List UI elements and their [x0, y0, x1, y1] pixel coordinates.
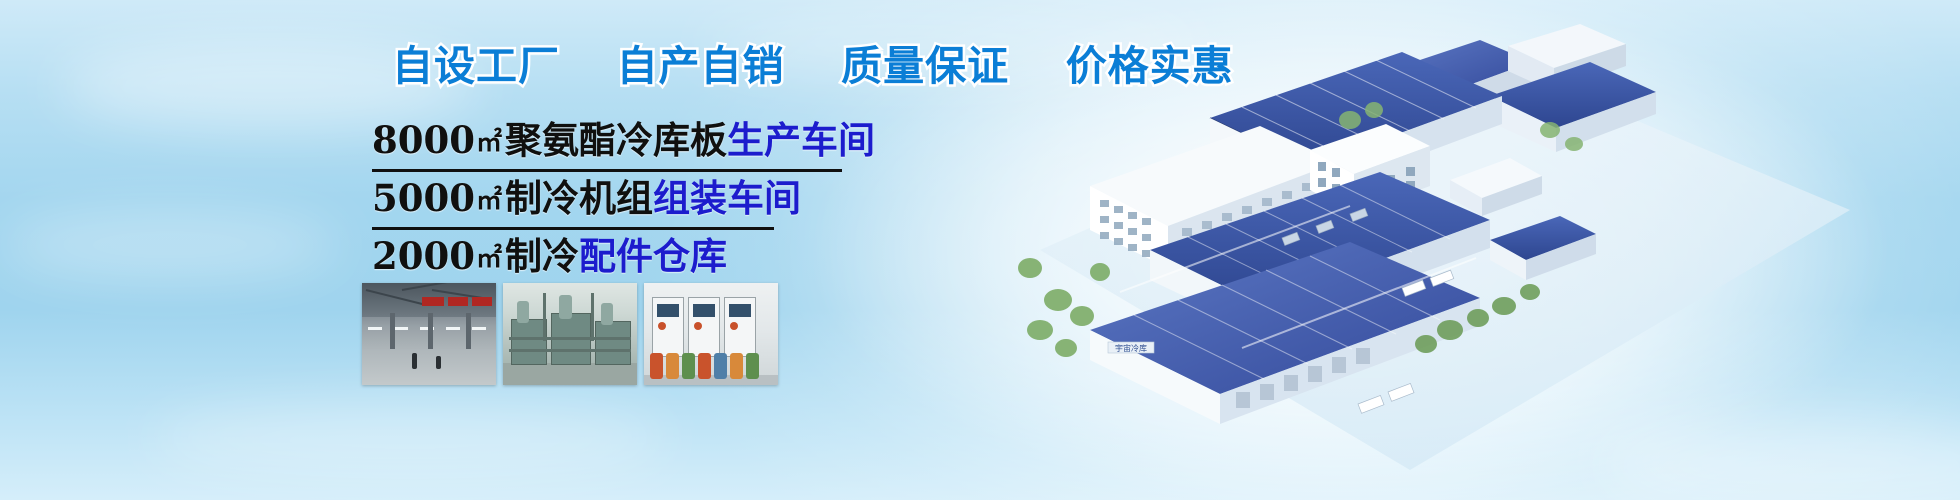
headline: 自设工厂 自产自销 质量保证 价格实惠: [392, 46, 1234, 87]
control-panel-photo: [644, 283, 778, 385]
pressure-tank: [601, 303, 613, 325]
building-sign-label: 宇宙冷库: [1115, 343, 1147, 353]
headline-phrase-1: 自设工厂: [392, 42, 560, 90]
refrigeration-compressor-photo: [503, 283, 637, 385]
feature-number-1: 8000: [372, 118, 475, 162]
factory-floor: [362, 349, 496, 385]
cloud-wisp: [150, 400, 670, 480]
feature-line-2: 5000㎡制冷机组组装车间: [372, 174, 1012, 225]
compressor-unit: [595, 321, 631, 365]
feature-unit-1: ㎡: [475, 128, 505, 158]
feature-highlight-2: 组装车间: [653, 176, 801, 220]
feature-divider-1: [372, 169, 842, 172]
cloud-wisp: [0, 210, 340, 280]
feature-text-2: 制冷机组: [505, 176, 653, 220]
control-cabinet: [688, 297, 720, 357]
pressure-tank: [559, 295, 572, 319]
panel-display: [657, 304, 679, 317]
panel-display: [693, 304, 715, 317]
feature-unit-2: ㎡: [475, 186, 505, 216]
red-banner: [472, 297, 492, 306]
headline-phrase-4: 价格实惠: [1066, 42, 1234, 90]
control-cabinet: [652, 297, 684, 357]
feature-number-2: 5000: [372, 176, 475, 220]
feature-text-3: 制冷: [505, 234, 579, 278]
gas-cylinder: [714, 353, 727, 379]
promo-banner: 宇宙冷库: [0, 0, 1960, 500]
feature-list: 8000㎡聚氨酯冷库板生产车间 5000㎡制冷机组组装车间 2000㎡制冷配件仓…: [372, 116, 1012, 283]
pipe-run: [509, 349, 631, 352]
indicator-light: [694, 322, 702, 330]
pipe-run: [591, 293, 594, 341]
photo-strip: [362, 283, 778, 385]
pressure-tank: [517, 301, 529, 323]
headline-phrase-2: 自产自销: [617, 42, 785, 90]
headline-phrase-3: 质量保证: [841, 42, 1009, 90]
gas-cylinder: [666, 353, 679, 379]
worker-figure: [436, 356, 441, 369]
worker-figure: [412, 353, 417, 369]
pipe-run: [509, 337, 631, 340]
feature-number-3: 2000: [372, 234, 475, 278]
compressor-unit: [511, 319, 547, 365]
gas-cylinder: [650, 353, 663, 379]
indicator-light: [658, 322, 666, 330]
red-banner: [448, 297, 468, 306]
feature-line-3: 2000㎡制冷配件仓库: [372, 232, 1012, 283]
feature-highlight-1: 生产车间: [727, 118, 875, 162]
gas-cylinder: [746, 353, 759, 379]
feature-highlight-3: 配件仓库: [579, 234, 727, 278]
feature-divider-2: [372, 227, 774, 230]
feature-line-1: 8000㎡聚氨酯冷库板生产车间: [372, 116, 1012, 167]
feature-unit-3: ㎡: [475, 244, 505, 274]
panel-display: [729, 304, 751, 317]
control-cabinet: [724, 297, 756, 357]
gas-cylinder: [698, 353, 711, 379]
gas-cylinder: [682, 353, 695, 379]
feature-text-1: 聚氨酯冷库板: [505, 118, 727, 162]
indicator-light: [730, 322, 738, 330]
machine-room-floor: [503, 363, 637, 385]
pipe-run: [543, 293, 546, 341]
red-banner: [422, 297, 444, 306]
workshop-interior-photo: [362, 283, 496, 385]
gas-cylinder: [730, 353, 743, 379]
